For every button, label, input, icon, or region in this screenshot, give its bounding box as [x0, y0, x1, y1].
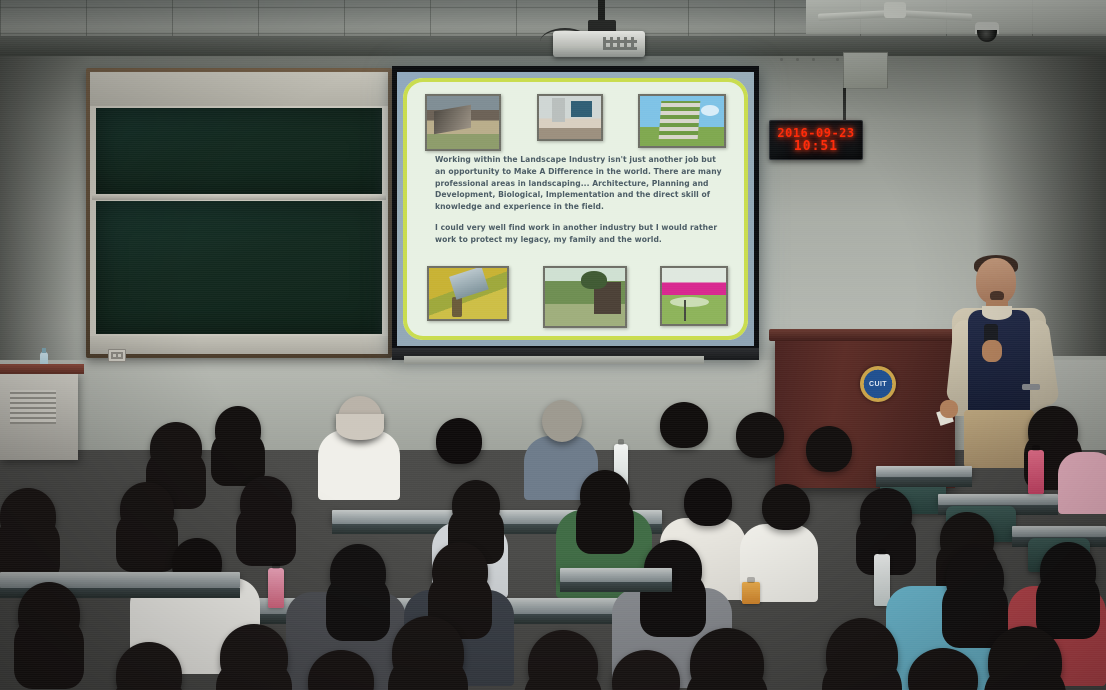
photo-garden-path — [427, 266, 509, 321]
screen-housing — [404, 356, 704, 364]
photo-building-entrance — [537, 94, 603, 141]
chalkboard-bottom-strip — [90, 336, 388, 354]
led-clock-display: 2016-09-23 10:51 — [769, 120, 863, 160]
presenter-hand-raised — [982, 340, 1002, 362]
lecture-hall-scene: 2016-09-23 10:51 Working within the — [0, 0, 1106, 690]
desk-row — [876, 466, 972, 477]
presenter-collar — [982, 306, 1012, 320]
audience-head — [580, 470, 630, 520]
presentation-slide: Working within the Landscape Industry is… — [403, 78, 748, 340]
photo-sprinkler-flowers — [660, 266, 728, 326]
audience-head — [762, 484, 810, 530]
slide-photo-row-top — [413, 88, 738, 150]
chalkboard-panel-upper — [96, 108, 382, 194]
projection-screen: Working within the Landscape Industry is… — [392, 66, 759, 356]
photo-green-tower — [638, 94, 726, 148]
older-man-hairline — [336, 414, 384, 440]
audience-head — [120, 482, 174, 536]
audience-head — [240, 476, 292, 530]
wall-screw-row — [780, 58, 842, 62]
power-outlet-icon — [108, 349, 126, 362]
ceiling-fan-icon — [884, 2, 906, 18]
desk-row — [1012, 526, 1106, 537]
chalkboard-ledge — [92, 194, 386, 200]
audience-head — [452, 480, 500, 530]
audience-head — [432, 542, 488, 600]
chalkboard-top-strip — [90, 72, 388, 106]
audience-head — [330, 544, 386, 602]
audience-head — [220, 624, 288, 690]
slide-body-text: Working within the Landscape Industry is… — [413, 150, 738, 245]
audience-head — [690, 628, 764, 690]
audience-head — [392, 616, 464, 690]
clock-time: 10:51 — [794, 140, 838, 153]
wall-shadow-left — [0, 56, 90, 386]
audience-head — [806, 426, 852, 472]
desk-row — [938, 494, 1058, 505]
audience-head — [826, 618, 898, 690]
clock-date: 2016-09-23 — [777, 127, 854, 139]
audience-head — [1040, 542, 1096, 600]
audience-head — [660, 402, 708, 448]
audience-head — [150, 422, 202, 474]
audience-head — [0, 488, 56, 544]
audience-head — [684, 478, 732, 526]
pink-thermos — [1028, 450, 1044, 494]
audience-head — [988, 626, 1062, 690]
slide-paragraph-1: Working within the Landscape Industry is… — [435, 154, 722, 213]
audience-head — [860, 488, 912, 540]
photo-japanese-garden — [543, 266, 627, 328]
cuit-emblem-text: CUIT — [869, 381, 887, 388]
white-water-bottle — [874, 554, 890, 606]
audience-head — [946, 548, 1004, 608]
audience-body — [318, 430, 400, 500]
chalkboard-panel-lower — [96, 201, 382, 334]
audience-head — [528, 630, 598, 690]
audience-head — [736, 412, 784, 458]
audience-area — [0, 392, 1106, 690]
dome-camera-icon — [975, 22, 999, 34]
audience-head — [436, 418, 482, 464]
audience-head — [18, 582, 80, 646]
student-pink-jacket — [1058, 452, 1106, 514]
orange-cup — [742, 582, 760, 604]
presenter-watch-icon — [1022, 384, 1040, 390]
chalkboard — [86, 68, 392, 358]
desk-row — [560, 568, 672, 582]
console-top-edge — [0, 364, 84, 374]
slide-photo-row-bottom — [413, 266, 738, 330]
pink-thermos — [268, 568, 284, 608]
lectern-top — [769, 329, 961, 341]
wall-speaker-panel — [843, 52, 888, 89]
audience-head — [542, 400, 582, 442]
projector-icon — [553, 31, 645, 57]
photo-roadway-construction — [425, 94, 501, 151]
audience-head — [215, 406, 261, 454]
slide-paragraph-2: I could very well find work in another i… — [435, 222, 722, 246]
screen-surface: Working within the Landscape Industry is… — [397, 72, 754, 346]
